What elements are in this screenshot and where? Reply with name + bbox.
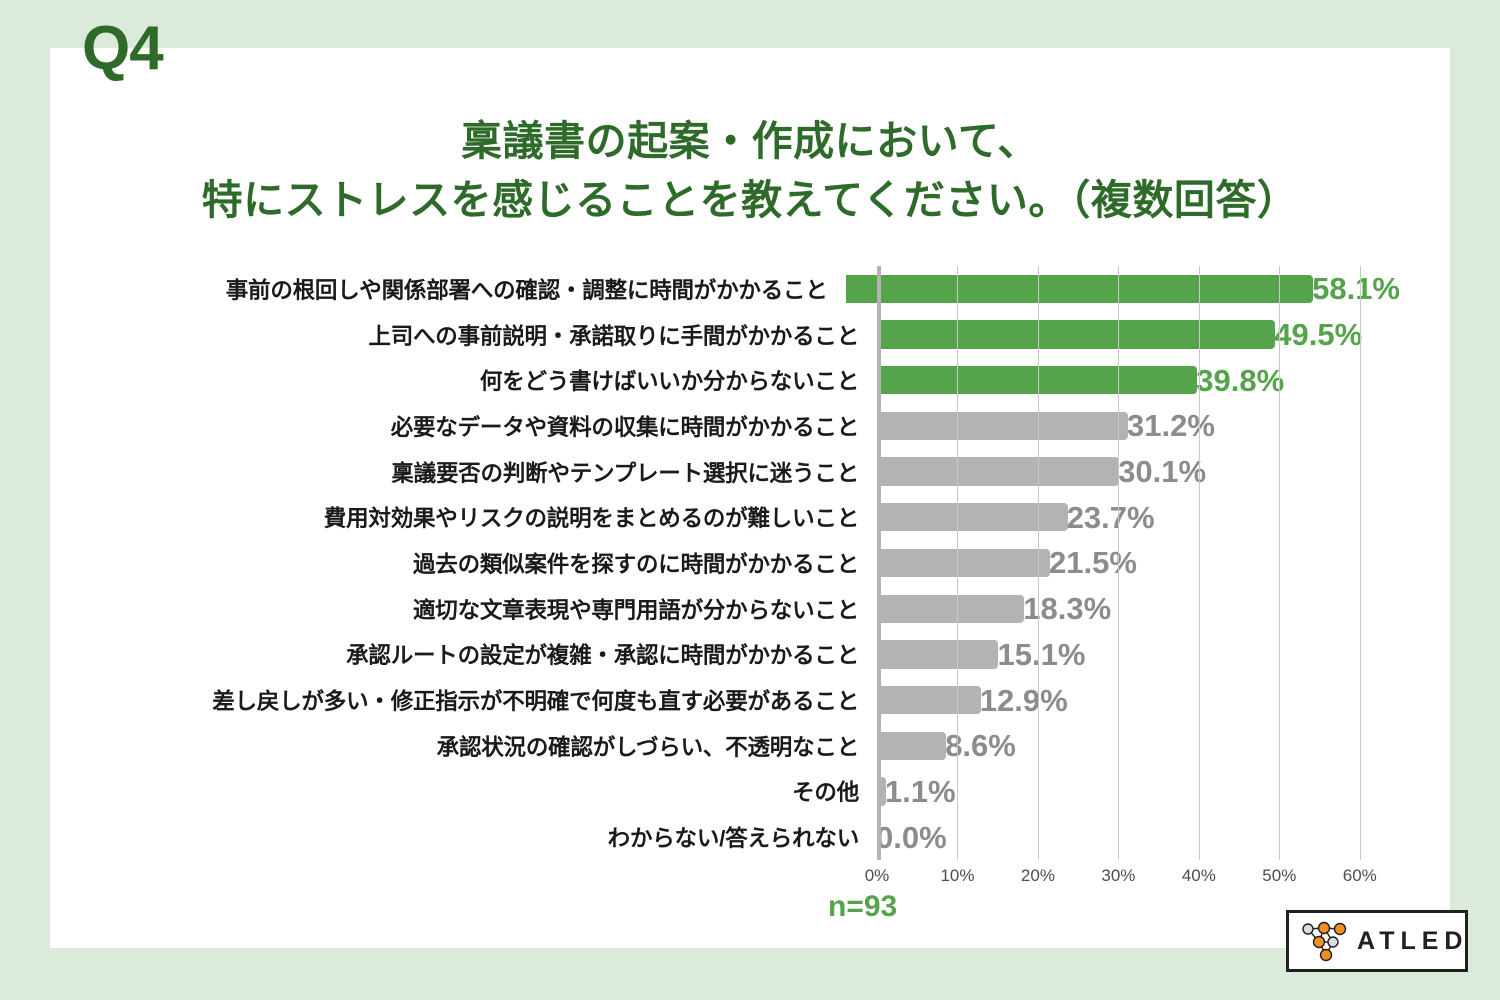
- bar-value-label: 18.3%: [1023, 593, 1111, 624]
- x-tick-label: 10%: [940, 866, 974, 886]
- x-axis-ticks: 0%10%20%30%40%50%60%: [877, 862, 1400, 892]
- bar-zone: 30.1%: [877, 449, 1400, 495]
- bar-value-label: 39.8%: [1196, 365, 1284, 396]
- bar-row: 承認状況の確認がしづらい、不透明なこと8.6%: [100, 723, 1400, 769]
- bar: [877, 640, 998, 668]
- category-label: 承認状況の確認がしづらい、不透明なこと: [100, 730, 877, 762]
- network-nodes-icon: [1299, 920, 1351, 962]
- category-label: 差し戻しが多い・修正指示が不明確で何度も直す必要があること: [100, 684, 877, 716]
- sample-size-note: n=93: [828, 890, 897, 924]
- bar-zone: 31.2%: [877, 403, 1400, 449]
- bar-row: わからない/答えられない0.0%: [100, 814, 1400, 860]
- bar: [877, 549, 1050, 577]
- category-label: 過去の類似案件を探すのに時間がかかること: [100, 547, 877, 579]
- bar-zone: 49.5%: [877, 312, 1400, 358]
- category-label: 事前の根回しや関係部署への確認・調整に時間がかかること: [100, 273, 846, 305]
- category-label: わからない/答えられない: [100, 821, 877, 853]
- x-tick-label: 50%: [1262, 866, 1296, 886]
- bar-zone: 39.8%: [877, 357, 1400, 403]
- chart-rows: 事前の根回しや関係部署への確認・調整に時間がかかること58.1%上司への事前説明…: [100, 266, 1400, 860]
- category-label: 何をどう書けばいいか分からないこと: [100, 364, 877, 396]
- bar-zone: 1.1%: [877, 769, 1400, 815]
- bar-value-label: 58.1%: [1312, 273, 1400, 304]
- bar-row: 適切な文章表現や専門用語が分からないこと18.3%: [100, 586, 1400, 632]
- bar-zone: 15.1%: [877, 632, 1400, 678]
- bar-value-label: 21.5%: [1049, 547, 1137, 578]
- chart-title-line-1: 稟議書の起案・作成において、: [70, 112, 1430, 171]
- bar: [877, 366, 1197, 394]
- bar-value-label: 0.0%: [876, 822, 947, 853]
- x-tick-label: 20%: [1021, 866, 1055, 886]
- bar-row: 差し戻しが多い・修正指示が不明確で何度も直す必要があること12.9%: [100, 677, 1400, 723]
- bar-row: 必要なデータや資料の収集に時間がかかること31.2%: [100, 403, 1400, 449]
- category-label: 適切な文章表現や専門用語が分からないこと: [100, 593, 877, 625]
- bar: [877, 686, 981, 714]
- x-tick-label: 60%: [1343, 866, 1377, 886]
- category-label: 承認ルートの設定が複雑・承認に時間がかかること: [100, 638, 877, 670]
- bar: [877, 412, 1128, 440]
- bar-zone: 58.1%: [846, 266, 1400, 312]
- bar-value-label: 23.7%: [1067, 502, 1155, 533]
- bar-value-label: 15.1%: [997, 639, 1085, 670]
- bar: [877, 503, 1068, 531]
- chart-title: 稟議書の起案・作成において、 特にストレスを感じることを教えてください。（複数回…: [70, 112, 1430, 231]
- bar-zone: 18.3%: [877, 586, 1400, 632]
- bar-zone: 12.9%: [877, 677, 1400, 723]
- bar-zone: 8.6%: [877, 723, 1400, 769]
- category-label: 費用対効果やリスクの説明をまとめるのが難しいこと: [100, 501, 877, 533]
- bar-row: その他1.1%: [100, 769, 1400, 815]
- bar: [877, 457, 1119, 485]
- bar-zone: 0.0%: [877, 814, 1400, 860]
- category-label: 上司への事前説明・承諾取りに手間がかかること: [100, 319, 877, 351]
- bar: [877, 732, 946, 760]
- x-tick-label: 30%: [1101, 866, 1135, 886]
- chart-title-line-2: 特にストレスを感じることを教えてください。（複数回答）: [70, 171, 1430, 230]
- bar-row: 稟議要否の判断やテンプレート選択に迷うこと30.1%: [100, 449, 1400, 495]
- x-tick-label: 40%: [1182, 866, 1216, 886]
- bar-value-label: 1.1%: [885, 776, 956, 807]
- horizontal-bar-chart: 事前の根回しや関係部署への確認・調整に時間がかかること58.1%上司への事前説明…: [100, 266, 1400, 866]
- category-label: その他: [100, 775, 877, 807]
- bar-row: 費用対効果やリスクの説明をまとめるのが難しいこと23.7%: [100, 494, 1400, 540]
- bar-row: 何をどう書けばいいか分からないこと39.8%: [100, 357, 1400, 403]
- bar: [846, 275, 1313, 303]
- logo-wordmark: ATLED: [1357, 927, 1468, 956]
- bar-row: 承認ルートの設定が複雑・承認に時間がかかること15.1%: [100, 632, 1400, 678]
- bar: [877, 320, 1275, 348]
- bar-value-label: 12.9%: [980, 685, 1068, 716]
- bar: [877, 595, 1024, 623]
- x-tick-label: 0%: [865, 866, 890, 886]
- bar-value-label: 31.2%: [1127, 410, 1215, 441]
- bar-row: 上司への事前説明・承諾取りに手間がかかること49.5%: [100, 312, 1400, 358]
- bar-zone: 23.7%: [877, 494, 1400, 540]
- bar-zone: 21.5%: [877, 540, 1400, 586]
- bar-row: 事前の根回しや関係部署への確認・調整に時間がかかること58.1%: [100, 266, 1400, 312]
- bar-row: 過去の類似案件を探すのに時間がかかること21.5%: [100, 540, 1400, 586]
- category-label: 必要なデータや資料の収集に時間がかかること: [100, 410, 877, 442]
- question-number: Q4: [82, 18, 163, 80]
- atled-logo: ATLED: [1286, 910, 1468, 972]
- category-label: 稟議要否の判断やテンプレート選択に迷うこと: [100, 456, 877, 488]
- bar-value-label: 49.5%: [1274, 319, 1362, 350]
- bar-value-label: 8.6%: [945, 730, 1016, 761]
- bar-value-label: 30.1%: [1118, 456, 1206, 487]
